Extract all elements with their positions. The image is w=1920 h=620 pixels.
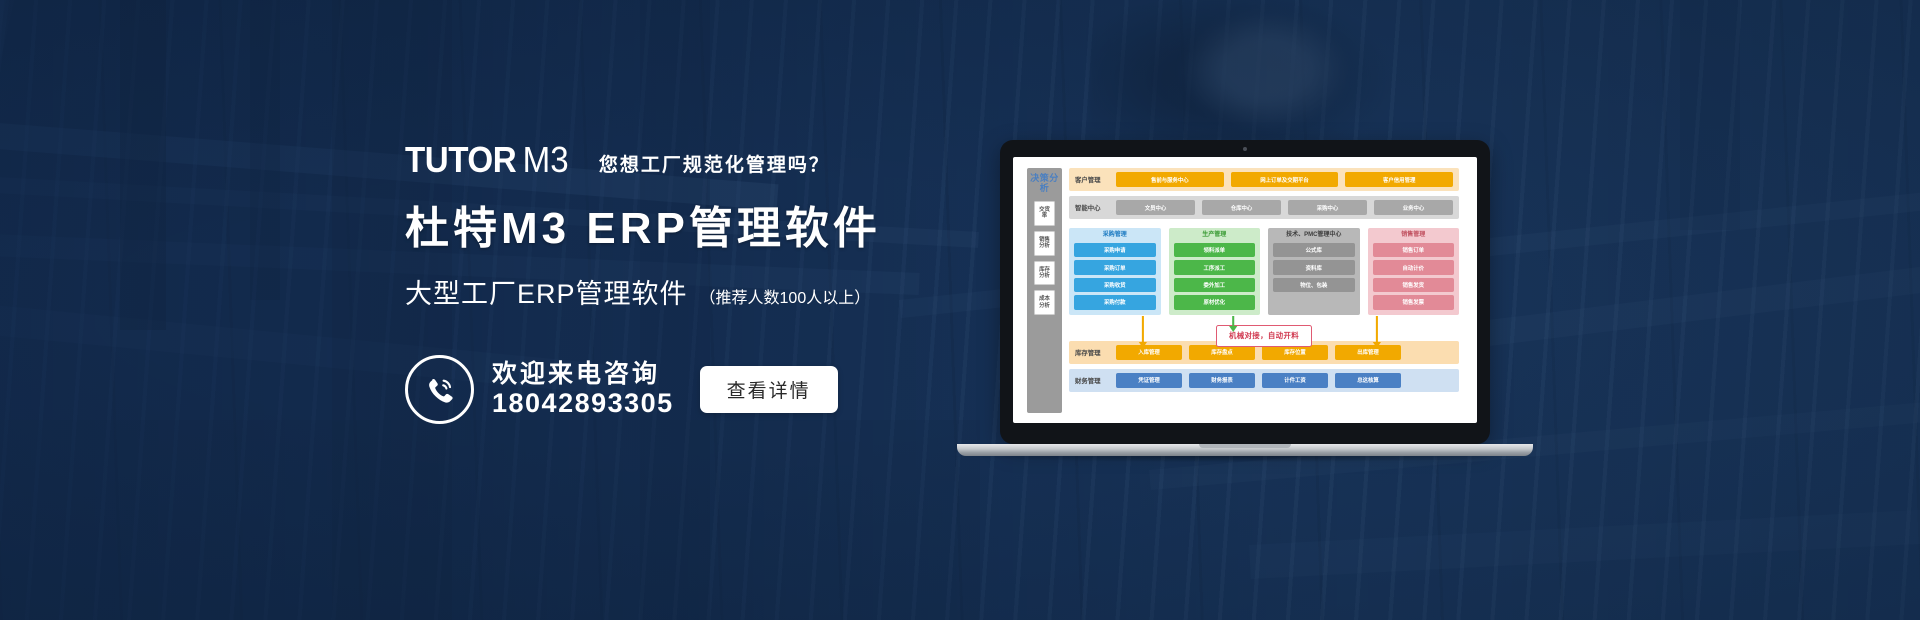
erp-sidebar-item-0[interactable]: 交货率	[1034, 201, 1055, 226]
erp-chip-smart-2[interactable]: 采购中心	[1288, 200, 1367, 215]
hero-subtitle: 大型工厂ERP管理软件 （推荐人数100人以上）	[405, 272, 1045, 311]
erp-chip-customer-0[interactable]: 售前与服务中心	[1116, 172, 1224, 187]
erp-chip-finance-0[interactable]: 凭证管理	[1116, 373, 1182, 388]
hero-banner: TUTORM3 您想工厂规范化管理吗？ 杜特M3 ERP管理软件 大型工厂ERP…	[0, 0, 1920, 620]
phone-call-icon	[405, 355, 474, 424]
laptop-lid: 决策分析 交货率 销售分析 库存分析 成本分析 客户管理 售前与服务中心 网上订…	[1000, 140, 1490, 444]
brand-tagline: 您想工厂规范化管理吗？	[599, 156, 830, 178]
erp-item-purchase-0[interactable]: 采购申请	[1074, 243, 1156, 257]
erp-item-sales-2[interactable]: 销售发货	[1373, 278, 1455, 292]
erp-item-production-1[interactable]: 工序派工	[1174, 260, 1256, 274]
erp-main: 客户管理 售前与服务中心 网上订单及交期平台 客户信用管理 智能中心 文员中心 …	[1069, 168, 1459, 413]
erp-row-customer: 客户管理 售前与服务中心 网上订单及交期平台 客户信用管理	[1069, 168, 1459, 191]
erp-columns: 采购管理 采购申请 采购订单 采购收货 采购付款 生产管理 领料派单 工序派工 …	[1069, 228, 1459, 315]
erp-item-purchase-1[interactable]: 采购订单	[1074, 260, 1156, 274]
erp-sidebar-item-2[interactable]: 库存分析	[1034, 261, 1055, 286]
erp-chip-customer-1[interactable]: 网上订单及交期平台	[1231, 172, 1339, 187]
view-details-button[interactable]: 查看详情	[700, 366, 838, 413]
logo-secondary-text: M3	[523, 139, 569, 180]
erp-row-smart: 智能中心 文员中心 仓库中心 采购中心 业务中心	[1069, 196, 1459, 219]
erp-row-finance: 财务管理 凭证管理 财务报表 计件工资 总这核算	[1069, 369, 1459, 392]
page-title: 杜特M3 ERP管理软件	[405, 204, 1045, 254]
erp-row-customer-label: 客户管理	[1075, 175, 1109, 184]
erp-item-tech-2[interactable]: 物位、包装	[1273, 278, 1355, 292]
erp-connectors: 机械对接，自动开料	[1069, 320, 1459, 336]
laptop-base	[957, 444, 1533, 456]
logo-primary-text: TUTOR	[405, 139, 516, 180]
erp-chip-finance-1[interactable]: 财务报表	[1189, 373, 1255, 388]
welcome-text: 欢迎来电咨询	[492, 360, 674, 388]
brand-logo: TUTORM3 您想工厂规范化管理吗？	[405, 140, 1045, 178]
erp-sidebar: 决策分析 交货率 销售分析 库存分析 成本分析	[1027, 168, 1062, 413]
erp-column-tech: 技术、PMC管理中心 公式库 资料库 物位、包装	[1268, 228, 1360, 315]
erp-row-smart-label: 智能中心	[1075, 203, 1109, 212]
erp-sidebar-item-3[interactable]: 成本分析	[1034, 290, 1055, 315]
erp-sidebar-title: 决策分析	[1030, 171, 1059, 196]
erp-item-sales-0[interactable]: 销售订单	[1373, 243, 1455, 257]
erp-chip-smart-0[interactable]: 文员中心	[1116, 200, 1195, 215]
erp-item-sales-1[interactable]: 自动计价	[1373, 260, 1455, 274]
erp-sidebar-item-1[interactable]: 销售分析	[1034, 231, 1055, 256]
erp-item-purchase-2[interactable]: 采购收货	[1074, 278, 1156, 292]
hero-subtitle-text: 大型工厂ERP管理软件	[405, 272, 688, 311]
erp-column-production-title: 生产管理	[1174, 232, 1256, 239]
phone-info: 欢迎来电咨询 18042893305	[492, 360, 674, 419]
erp-column-purchase-title: 采购管理	[1074, 232, 1156, 239]
erp-item-tech-0[interactable]: 公式库	[1273, 243, 1355, 257]
erp-chip-smart-1[interactable]: 仓库中心	[1202, 200, 1281, 215]
cta-row: 欢迎来电咨询 18042893305 查看详情	[405, 355, 1045, 424]
erp-item-tech-1[interactable]: 资料库	[1273, 260, 1355, 274]
laptop-screen: 决策分析 交货率 销售分析 库存分析 成本分析 客户管理 售前与服务中心 网上订…	[1013, 157, 1477, 423]
laptop-shadow	[945, 456, 1545, 462]
erp-item-production-0[interactable]: 领料派单	[1174, 243, 1256, 257]
laptop-mockup: 决策分析 交货率 销售分析 库存分析 成本分析 客户管理 售前与服务中心 网上订…	[1000, 140, 1490, 462]
erp-column-purchase: 采购管理 采购申请 采购订单 采购收货 采购付款	[1069, 228, 1161, 315]
erp-chip-finance-3[interactable]: 总这核算	[1335, 373, 1401, 388]
erp-column-tech-title: 技术、PMC管理中心	[1273, 232, 1355, 239]
webcam-dot	[1243, 147, 1247, 151]
erp-item-production-2[interactable]: 委外加工	[1174, 278, 1256, 292]
erp-column-production: 生产管理 领料派单 工序派工 委外加工 原材优化	[1169, 228, 1261, 315]
hero-subtitle-note: （推荐人数100人以上）	[700, 284, 871, 308]
erp-item-production-3[interactable]: 原材优化	[1174, 295, 1256, 309]
erp-chip-finance-2[interactable]: 计件工资	[1262, 373, 1328, 388]
erp-row-finance-label: 财务管理	[1075, 376, 1109, 385]
logo-wordmark: TUTORM3	[405, 142, 569, 178]
erp-diagram: 决策分析 交货率 销售分析 库存分析 成本分析 客户管理 售前与服务中心 网上订…	[1013, 157, 1477, 423]
erp-item-purchase-3[interactable]: 采购付款	[1074, 295, 1156, 309]
erp-item-sales-3[interactable]: 销售发票	[1373, 295, 1455, 309]
hero-content: TUTORM3 您想工厂规范化管理吗？ 杜特M3 ERP管理软件 大型工厂ERP…	[405, 140, 1045, 424]
erp-chip-smart-3[interactable]: 业务中心	[1374, 200, 1453, 215]
erp-column-sales: 销售管理 销售订单 自动计价 销售发货 销售发票	[1368, 228, 1460, 315]
erp-column-sales-title: 销售管理	[1373, 232, 1455, 239]
erp-chip-customer-2[interactable]: 客户信用管理	[1345, 172, 1453, 187]
phone-number[interactable]: 18042893305	[492, 388, 674, 419]
